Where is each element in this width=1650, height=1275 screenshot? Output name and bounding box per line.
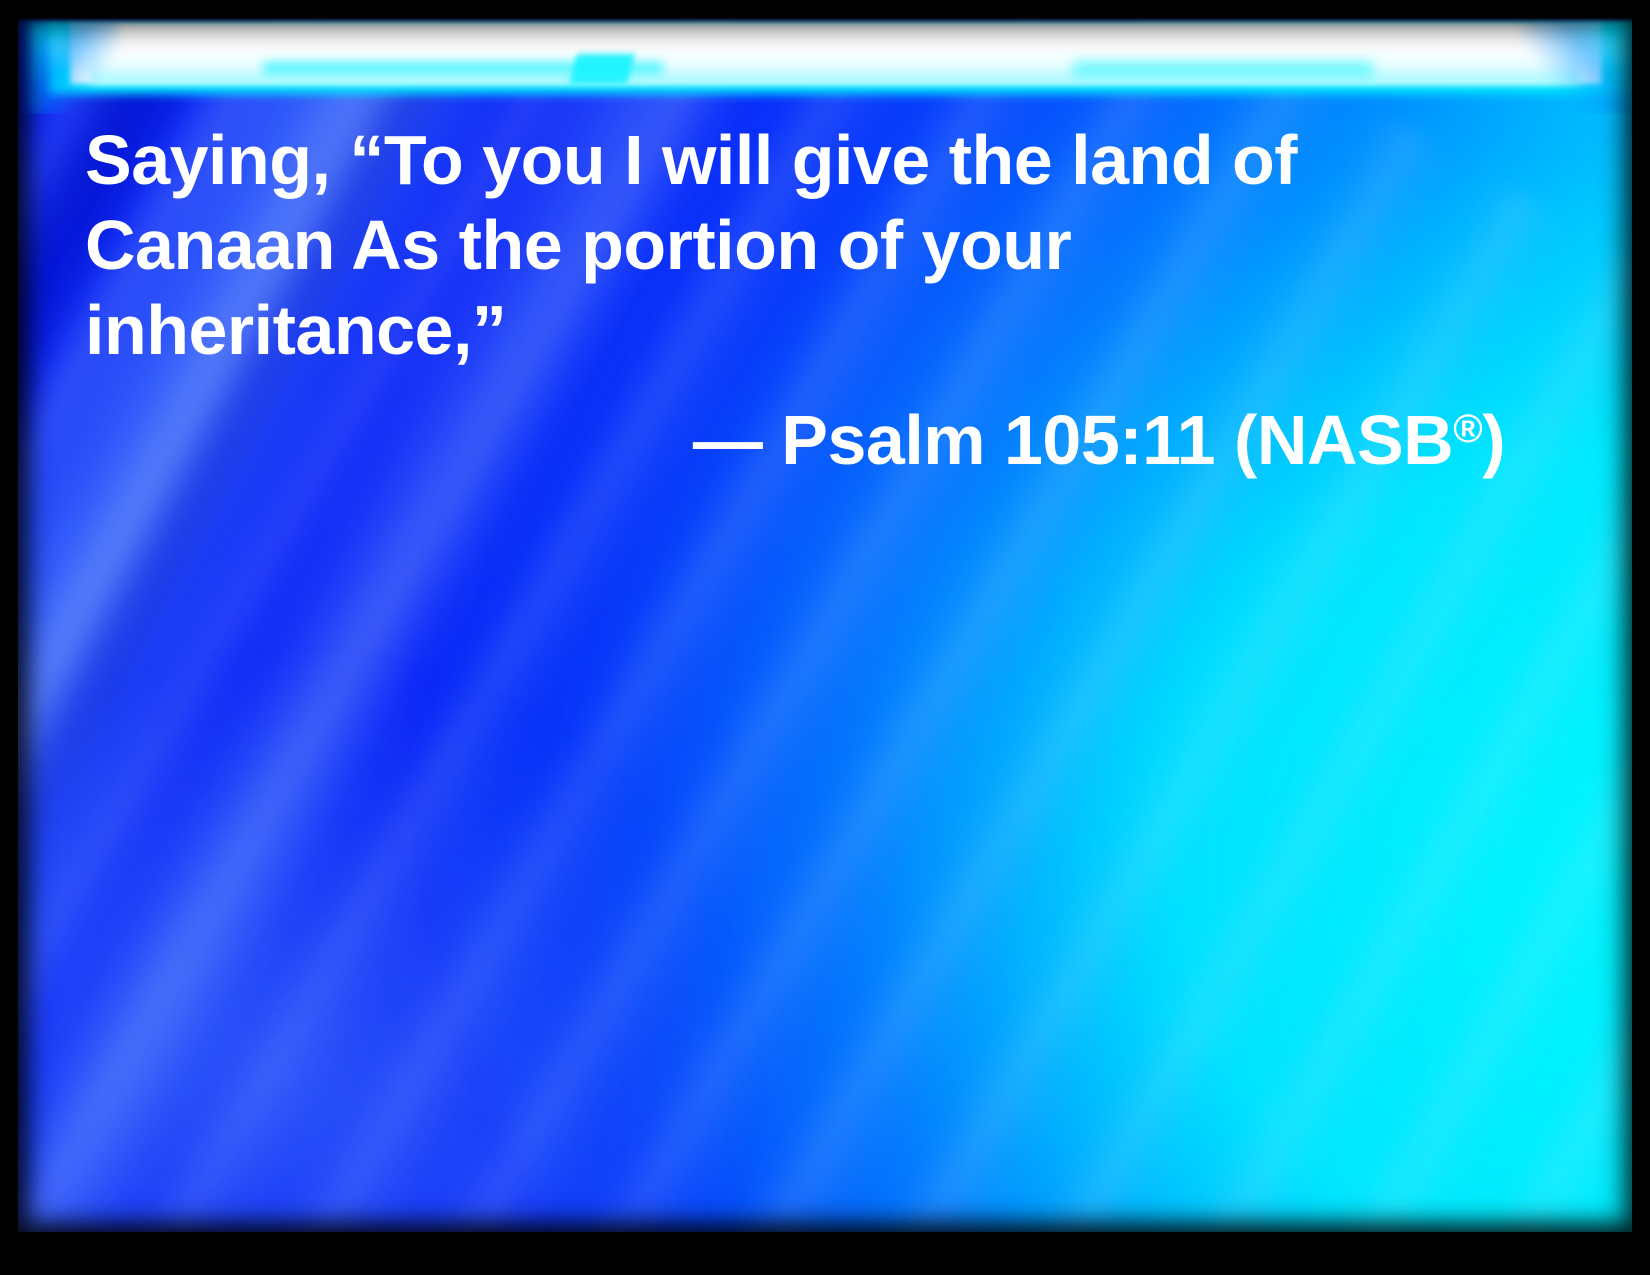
verse-line-3: inheritance,” — [85, 288, 1385, 373]
verse-text-block: Saying, “To you I will give the land of … — [85, 118, 1385, 373]
text-layer: Saying, “To you I will give the land of … — [18, 18, 1632, 1232]
citation-spacer-2 — [1215, 401, 1234, 479]
registered-trademark-icon: ® — [1453, 407, 1482, 451]
slide-frame: Saying, “To you I will give the land of … — [0, 0, 1650, 1275]
citation-spacer-1 — [762, 401, 781, 479]
scripture-citation: — Psalm 105:11 (NASB®) — [693, 387, 1505, 483]
verse-line-2: Canaan As the portion of your — [85, 203, 1385, 288]
citation-block: — Psalm 105:11 (NASB®) — [85, 387, 1505, 483]
citation-translation-close: ) — [1482, 401, 1505, 479]
citation-translation-open: (NASB — [1234, 401, 1453, 479]
verse-line-1: Saying, “To you I will give the land of — [85, 118, 1385, 203]
slide-canvas: Saying, “To you I will give the land of … — [18, 18, 1632, 1232]
citation-reference: Psalm 105:11 — [781, 401, 1215, 479]
citation-em-dash: — — [693, 401, 763, 479]
